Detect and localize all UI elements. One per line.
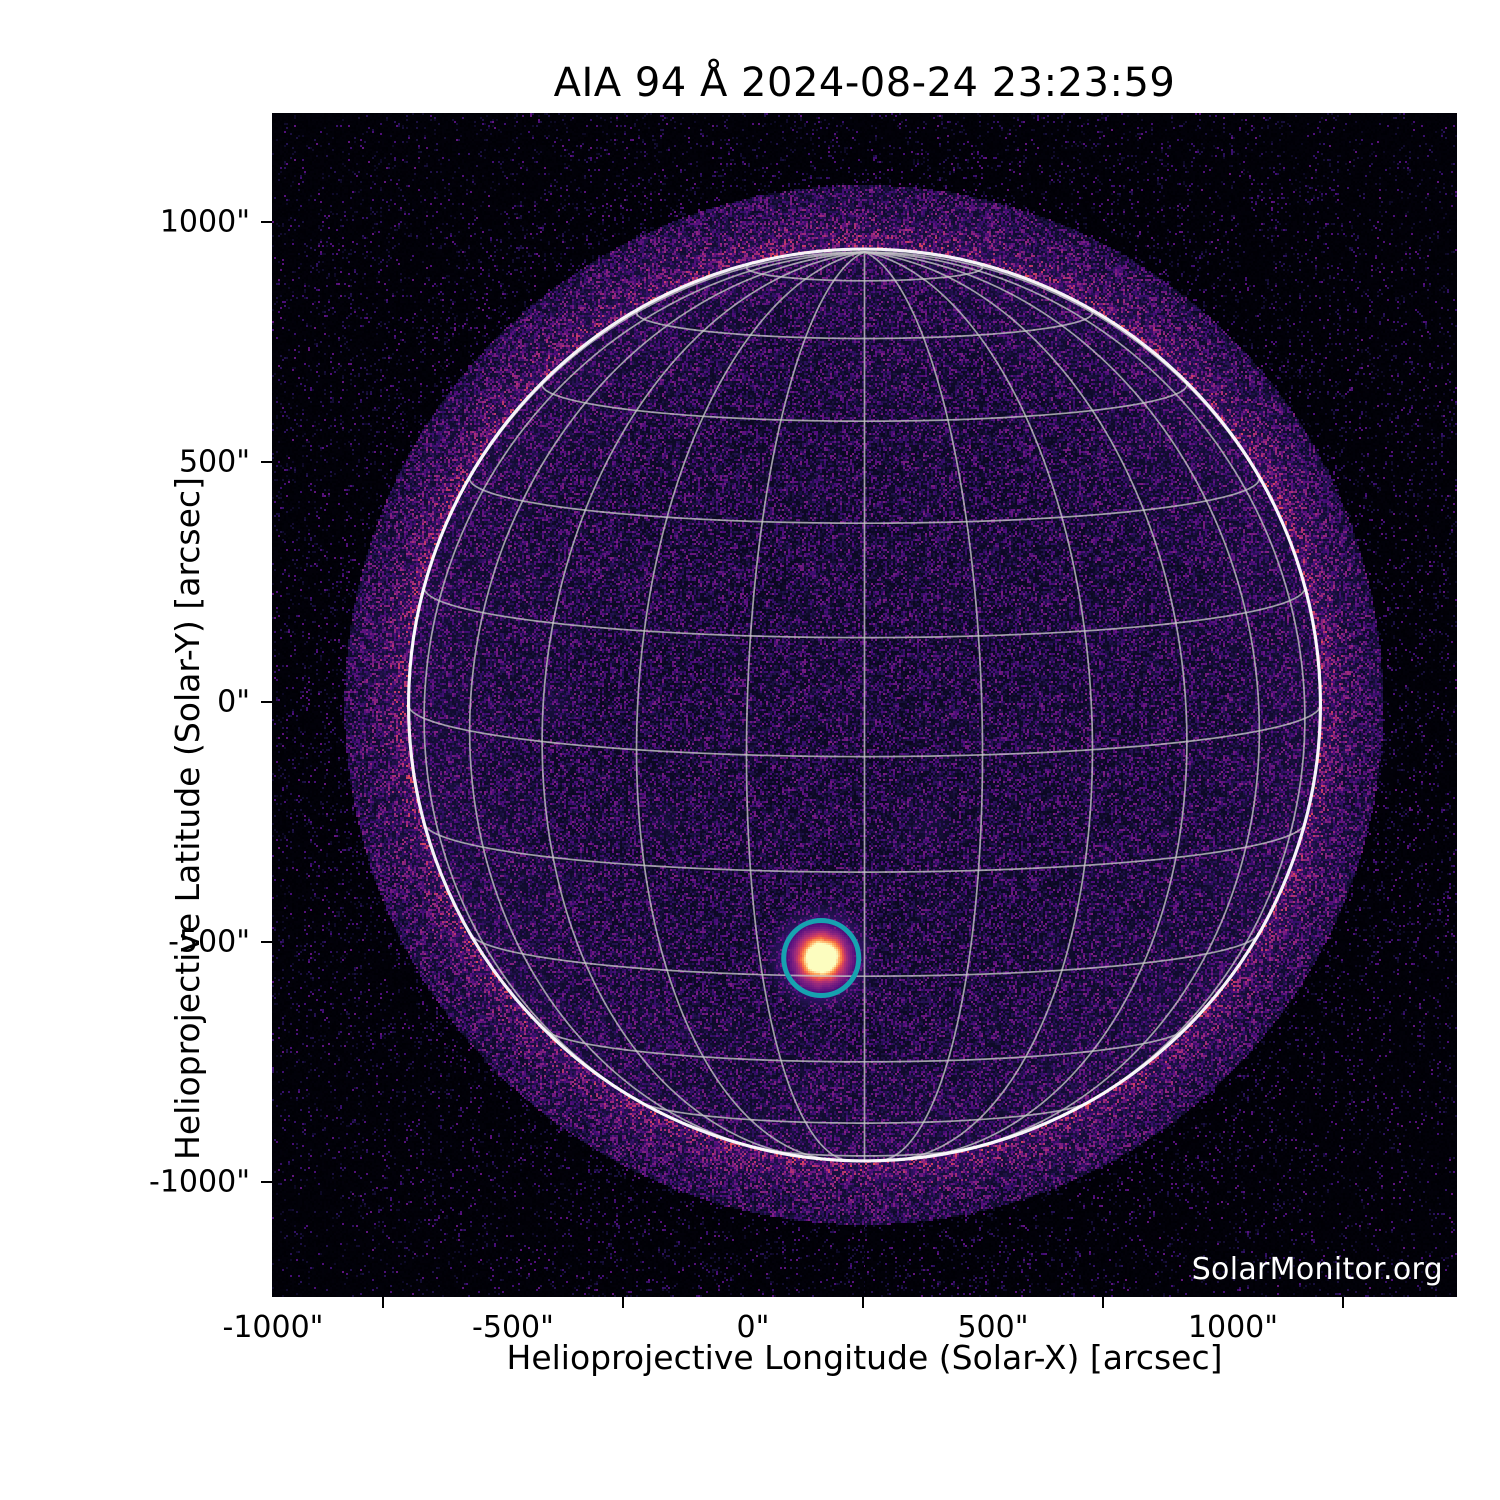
ytick-label-1000: 1000" — [55, 205, 250, 240]
y-axis-label: Helioprojective Latitude (Solar-Y) [arcs… — [168, 477, 207, 1160]
solar-image-figure: AIA 94 Å 2024-08-24 23:23:59 SolarMonito… — [0, 0, 1500, 1500]
xtick-mark-4 — [1342, 1297, 1344, 1308]
ytick-label-minus500: -500" — [55, 925, 250, 960]
active-region-marker[interactable] — [784, 921, 859, 996]
ytick-label-500: 500" — [55, 445, 250, 480]
xtick-mark-3 — [1102, 1297, 1104, 1308]
ytick-mark-3 — [261, 941, 272, 943]
ytick-mark-4 — [261, 1181, 272, 1183]
xtick-mark-0 — [382, 1297, 384, 1308]
ytick-mark-1 — [261, 461, 272, 463]
ytick-mark-2 — [261, 701, 272, 703]
watermark-solarmonitor: SolarMonitor.org — [1192, 1252, 1443, 1287]
page-title: AIA 94 Å 2024-08-24 23:23:59 — [272, 60, 1457, 106]
xtick-mark-1 — [622, 1297, 624, 1308]
plot-area[interactable]: SolarMonitor.org — [272, 113, 1457, 1297]
grid-and-marker-overlay — [272, 113, 1457, 1297]
ytick-label-minus1000: -1000" — [55, 1165, 250, 1200]
ytick-mark-0 — [261, 221, 272, 223]
ytick-label-0: 0" — [55, 685, 250, 720]
x-axis-label: Helioprojective Longitude (Solar-X) [arc… — [272, 1338, 1457, 1377]
xtick-mark-2 — [862, 1297, 864, 1308]
